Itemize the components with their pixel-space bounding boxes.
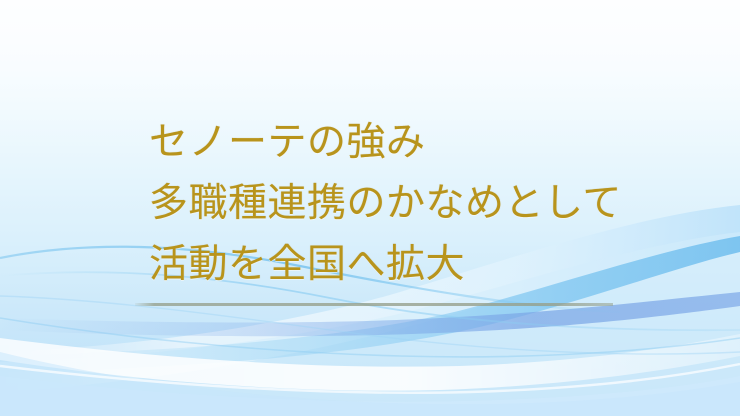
- slide-title-block: セノーテの強み 多職種連携のかなめとして 活動を全国へ拡大: [149, 112, 709, 295]
- wave-band-white-lower: [0, 334, 740, 391]
- title-line-1: セノーテの強み: [149, 112, 709, 173]
- wave-band-bottom: [0, 376, 740, 416]
- wave-line-3: [0, 318, 740, 357]
- slide-canvas: セノーテの強み 多職種連携のかなめとして 活動を全国へ拡大: [0, 0, 740, 416]
- wave-band-bottom-left: [0, 352, 740, 416]
- title-line-2: 多職種連携のかなめとして: [149, 173, 709, 234]
- wave-line-5: [0, 364, 740, 393]
- title-line-3: 活動を全国へ拡大: [149, 234, 709, 295]
- wave-band-accent: [0, 292, 740, 336]
- title-divider-rule: [135, 303, 613, 306]
